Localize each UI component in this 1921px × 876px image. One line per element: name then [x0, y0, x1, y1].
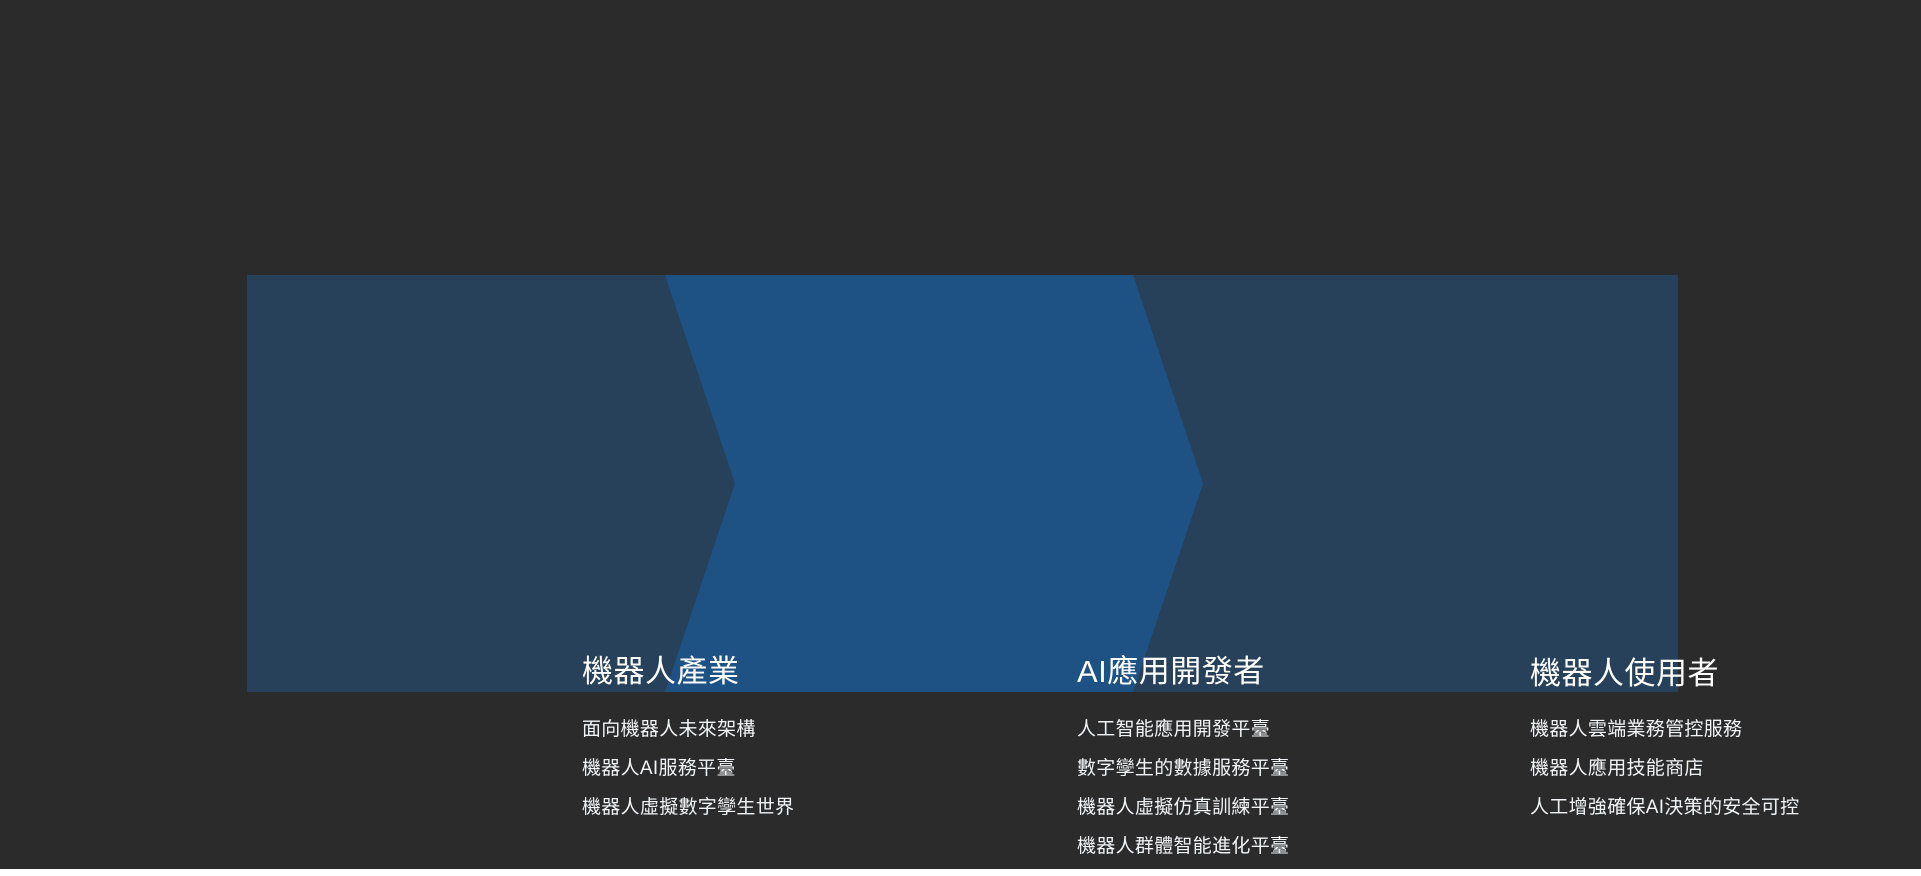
column-item-list: 人工智能應用開發平臺 數字孿生的數據服務平臺 機器人虛擬仿真訓練平臺 機器人群體…: [1077, 720, 1289, 876]
list-item: 機器人群體智能進化平臺: [1077, 837, 1289, 856]
slide-canvas: 機器人產業 面向機器人未來架構 機器人AI服務平臺 機器人虛擬數字孿生世界 AI…: [0, 0, 1921, 869]
list-item: 機器人虛擬仿真訓練平臺: [1077, 798, 1289, 817]
chevron-arrow-shape: [247, 275, 1678, 692]
list-item: 機器人應用技能商店: [1530, 759, 1799, 778]
chevron-polygon: [665, 275, 1203, 692]
list-item: 機器人AI服務平臺: [582, 759, 794, 778]
column-heading: 機器人產業: [582, 656, 740, 687]
list-item: 機器人虛擬數字孿生世界: [582, 798, 794, 817]
column-heading: 機器人使用者: [1530, 658, 1719, 689]
three-stage-diagram-panel: 機器人產業 面向機器人未來架構 機器人AI服務平臺 機器人虛擬數字孿生世界 AI…: [247, 275, 1678, 692]
list-item: 面向機器人未來架構: [582, 720, 794, 739]
list-item: 機器人雲端業務管控服務: [1530, 720, 1799, 739]
list-item: 人工增強確保AI決策的安全可控: [1530, 798, 1799, 817]
list-item: 數字孿生的數據服務平臺: [1077, 759, 1289, 778]
column-item-list: 機器人雲端業務管控服務 機器人應用技能商店 人工增強確保AI決策的安全可控: [1530, 720, 1799, 837]
list-item: 人工智能應用開發平臺: [1077, 720, 1289, 739]
column-item-list: 面向機器人未來架構 機器人AI服務平臺 機器人虛擬數字孿生世界: [582, 720, 794, 837]
column-heading: AI應用開發者: [1077, 656, 1265, 687]
